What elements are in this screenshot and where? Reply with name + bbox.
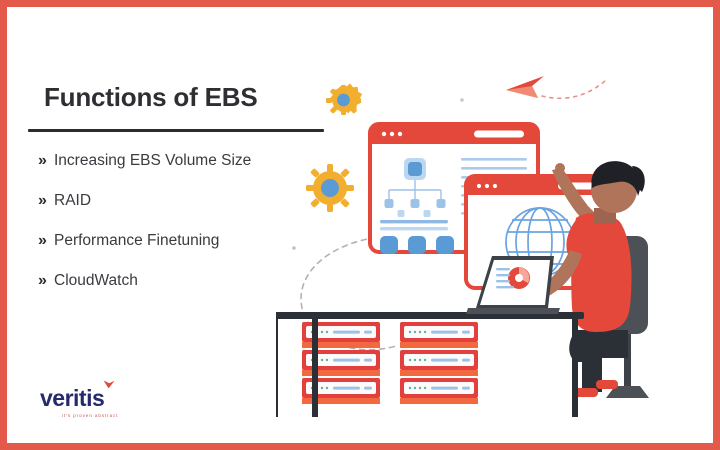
list-item-label: RAID (54, 192, 91, 210)
chevron-double-right-icon: » (28, 273, 54, 289)
list-item-label: CloudWatch (54, 272, 138, 290)
content-block: Functions of EBS » Increasing EBS Volume… (28, 82, 338, 312)
window-dot (398, 132, 402, 136)
functions-list: » Increasing EBS Volume Size » RAID » Pe… (28, 152, 338, 290)
progress-bar (380, 220, 448, 223)
window-dot (493, 184, 497, 188)
window-dot (382, 132, 386, 136)
page-title: Functions of EBS (44, 82, 338, 113)
shoe (596, 380, 618, 389)
window-dot (485, 184, 489, 188)
server-unit (400, 378, 478, 404)
list-item: » Increasing EBS Volume Size (28, 152, 338, 170)
laptop-base (466, 308, 560, 314)
pie-chart-icon (508, 267, 530, 289)
desk-leg (312, 319, 318, 417)
brand-logo: veritis it's proven abstract (40, 387, 118, 418)
logo-checkmark-icon (103, 380, 115, 389)
slide-canvas: Functions of EBS » Increasing EBS Volume… (0, 0, 720, 450)
list-item-label: Performance Finetuning (54, 232, 219, 250)
chevron-double-right-icon: » (28, 193, 54, 209)
list-item: » Performance Finetuning (28, 232, 338, 250)
list-item-label: Increasing EBS Volume Size (54, 152, 251, 170)
server-unit (400, 322, 478, 348)
list-item: » RAID (28, 192, 338, 210)
desk-leg (572, 319, 578, 417)
chevron-double-right-icon: » (28, 233, 54, 249)
window-dot (390, 132, 394, 136)
hand-far (555, 163, 565, 173)
illustration (276, 40, 706, 420)
title-divider (28, 129, 324, 132)
logo-wordmark-wrap: veritis (40, 387, 104, 410)
desk-leg (276, 319, 278, 417)
server-unit (400, 350, 478, 376)
chevron-double-right-icon: » (28, 153, 54, 169)
logo-wordmark: veritis (40, 385, 104, 411)
logo-tagline: it's proven abstract (62, 413, 118, 418)
dot-accent (460, 98, 464, 102)
window-dot (477, 184, 481, 188)
progress-bar (380, 227, 448, 230)
paper-plane-icon (506, 76, 606, 98)
server-rack-right (400, 322, 478, 404)
list-item: » CloudWatch (28, 272, 338, 290)
window-address-bar (474, 131, 524, 138)
